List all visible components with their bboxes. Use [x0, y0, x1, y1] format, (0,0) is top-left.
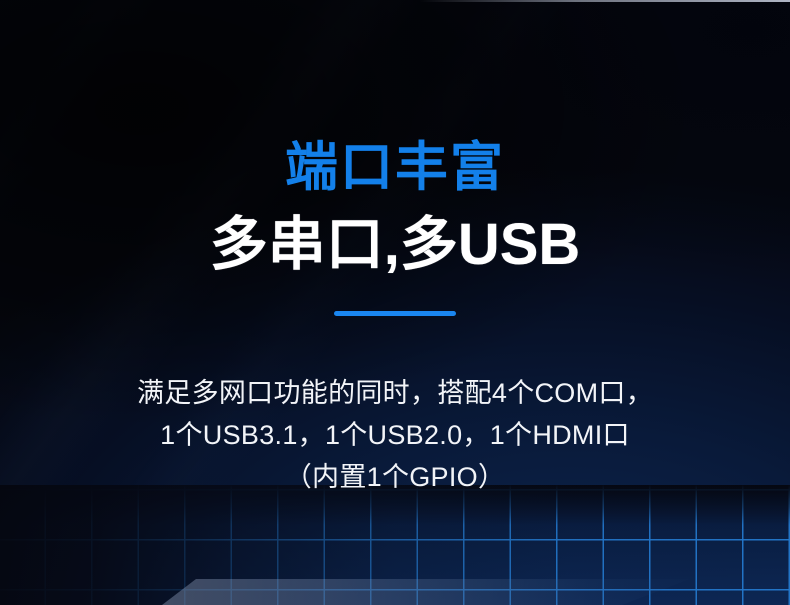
description-block: 满足多网口功能的同时，搭配4个COM口， 1个USB3.1，1个USB2.0，1… [0, 372, 790, 498]
description-line-3: （内置1个GPIO） [0, 456, 790, 498]
title-divider [334, 311, 456, 316]
banner-content: 端口丰富 多串口,多USB 满足多网口功能的同时，搭配4个COM口， 1个USB… [0, 0, 790, 605]
headline-main: 多串口,多USB [0, 216, 790, 274]
description-line-2: 1个USB3.1，1个USB2.0，1个HDMI口 [0, 414, 790, 456]
description-line-1: 满足多网口功能的同时，搭配4个COM口， [0, 372, 790, 414]
headline-accent: 端口丰富 [0, 141, 790, 194]
feature-banner: 端口丰富 多串口,多USB 满足多网口功能的同时，搭配4个COM口， 1个USB… [0, 0, 790, 605]
